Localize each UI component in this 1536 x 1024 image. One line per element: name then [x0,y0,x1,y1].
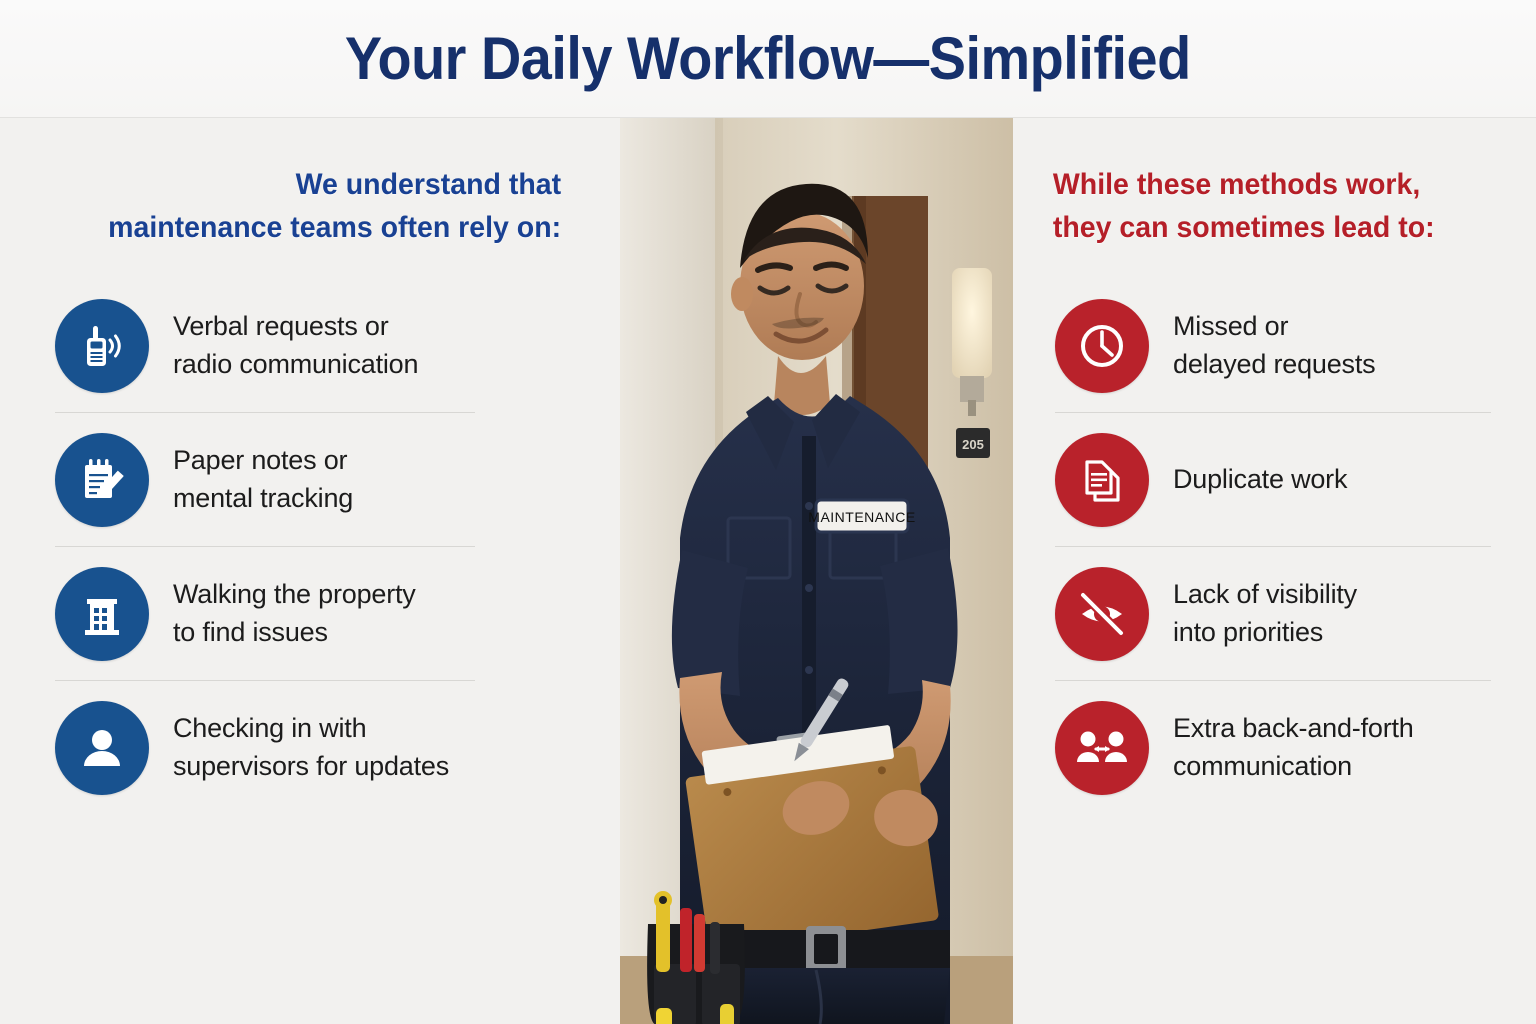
list-item-line-1: Lack of visibility [1173,576,1357,614]
left-heading-line-1: We understand that [31,164,561,207]
person-icon [55,701,149,795]
list-item: Walking the property to find issues [0,547,620,680]
list-item-line-2: delayed requests [1173,346,1375,384]
right-heading-line-1: While these methods work, [1053,164,1510,207]
right-heading-line-2: they can sometimes lead to: [1053,207,1510,250]
svg-text:MAINTENANCE: MAINTENANCE [808,509,915,525]
eye-slash-icon [1055,567,1149,661]
list-item-line-2: communication [1173,748,1414,786]
left-items-list: Verbal requests or radio communication [0,279,620,814]
list-item-line-1: Walking the property [173,576,416,614]
list-item-line-2: supervisors for updates [173,748,449,786]
right-column-heading: While these methods work, they can somet… [1013,164,1510,249]
two-people-arrow-icon [1055,701,1149,795]
list-item-label: Walking the property to find issues [173,576,416,652]
list-item-label: Missed or delayed requests [1173,308,1375,384]
list-item-line-1: Extra back-and-forth [1173,710,1414,748]
right-column: While these methods work, they can somet… [1013,118,1536,1024]
maintenance-worker-photo: 205 [620,118,1013,1024]
notepad-pencil-icon [55,433,149,527]
list-item-line-2: into priorities [1173,614,1357,652]
left-heading-line-2: maintenance teams often rely on: [31,207,561,250]
list-item: Paper notes or mental tracking [0,413,620,546]
list-item-label: Lack of visibility into priorities [1173,576,1357,652]
body-area: We understand that maintenance teams oft… [0,118,1536,1024]
list-item-line-1: Paper notes or [173,442,353,480]
list-item-line-1: Missed or [1173,308,1375,346]
header-band: Your Daily Workflow—Simplified [0,0,1536,118]
right-items-list: Missed or delayed requests [1013,279,1536,814]
list-item-line-2: to find issues [173,614,416,652]
list-item-line-2: mental tracking [173,480,353,518]
list-item-line-2: radio communication [173,346,418,384]
list-item: Extra back-and-forth communication [1013,681,1536,814]
svg-text:205: 205 [962,437,984,452]
building-icon [55,567,149,661]
walkie-talkie-icon [55,299,149,393]
list-item: Lack of visibility into priorities [1013,547,1536,680]
page-title: Your Daily Workflow—Simplified [345,24,1191,93]
list-item-label: Checking in with supervisors for updates [173,710,449,786]
list-item: Duplicate work [1013,413,1536,546]
list-item-line-1: Duplicate work [1173,461,1347,499]
clock-icon [1055,299,1149,393]
list-item-label: Extra back-and-forth communication [1173,710,1414,786]
duplicate-documents-icon [1055,433,1149,527]
list-item: Missed or delayed requests [1013,279,1536,412]
left-column: We understand that maintenance teams oft… [0,118,620,1024]
list-item-line-1: Checking in with [173,710,449,748]
list-item-label: Paper notes or mental tracking [173,442,353,518]
infographic-root: Your Daily Workflow—Simplified We unders… [0,0,1536,1024]
list-item: Verbal requests or radio communication [0,279,620,412]
list-item-label: Duplicate work [1173,461,1347,499]
list-item-label: Verbal requests or radio communication [173,308,418,384]
list-item: Checking in with supervisors for updates [0,681,620,814]
left-column-heading: We understand that maintenance teams oft… [31,164,620,249]
list-item-line-1: Verbal requests or [173,308,418,346]
